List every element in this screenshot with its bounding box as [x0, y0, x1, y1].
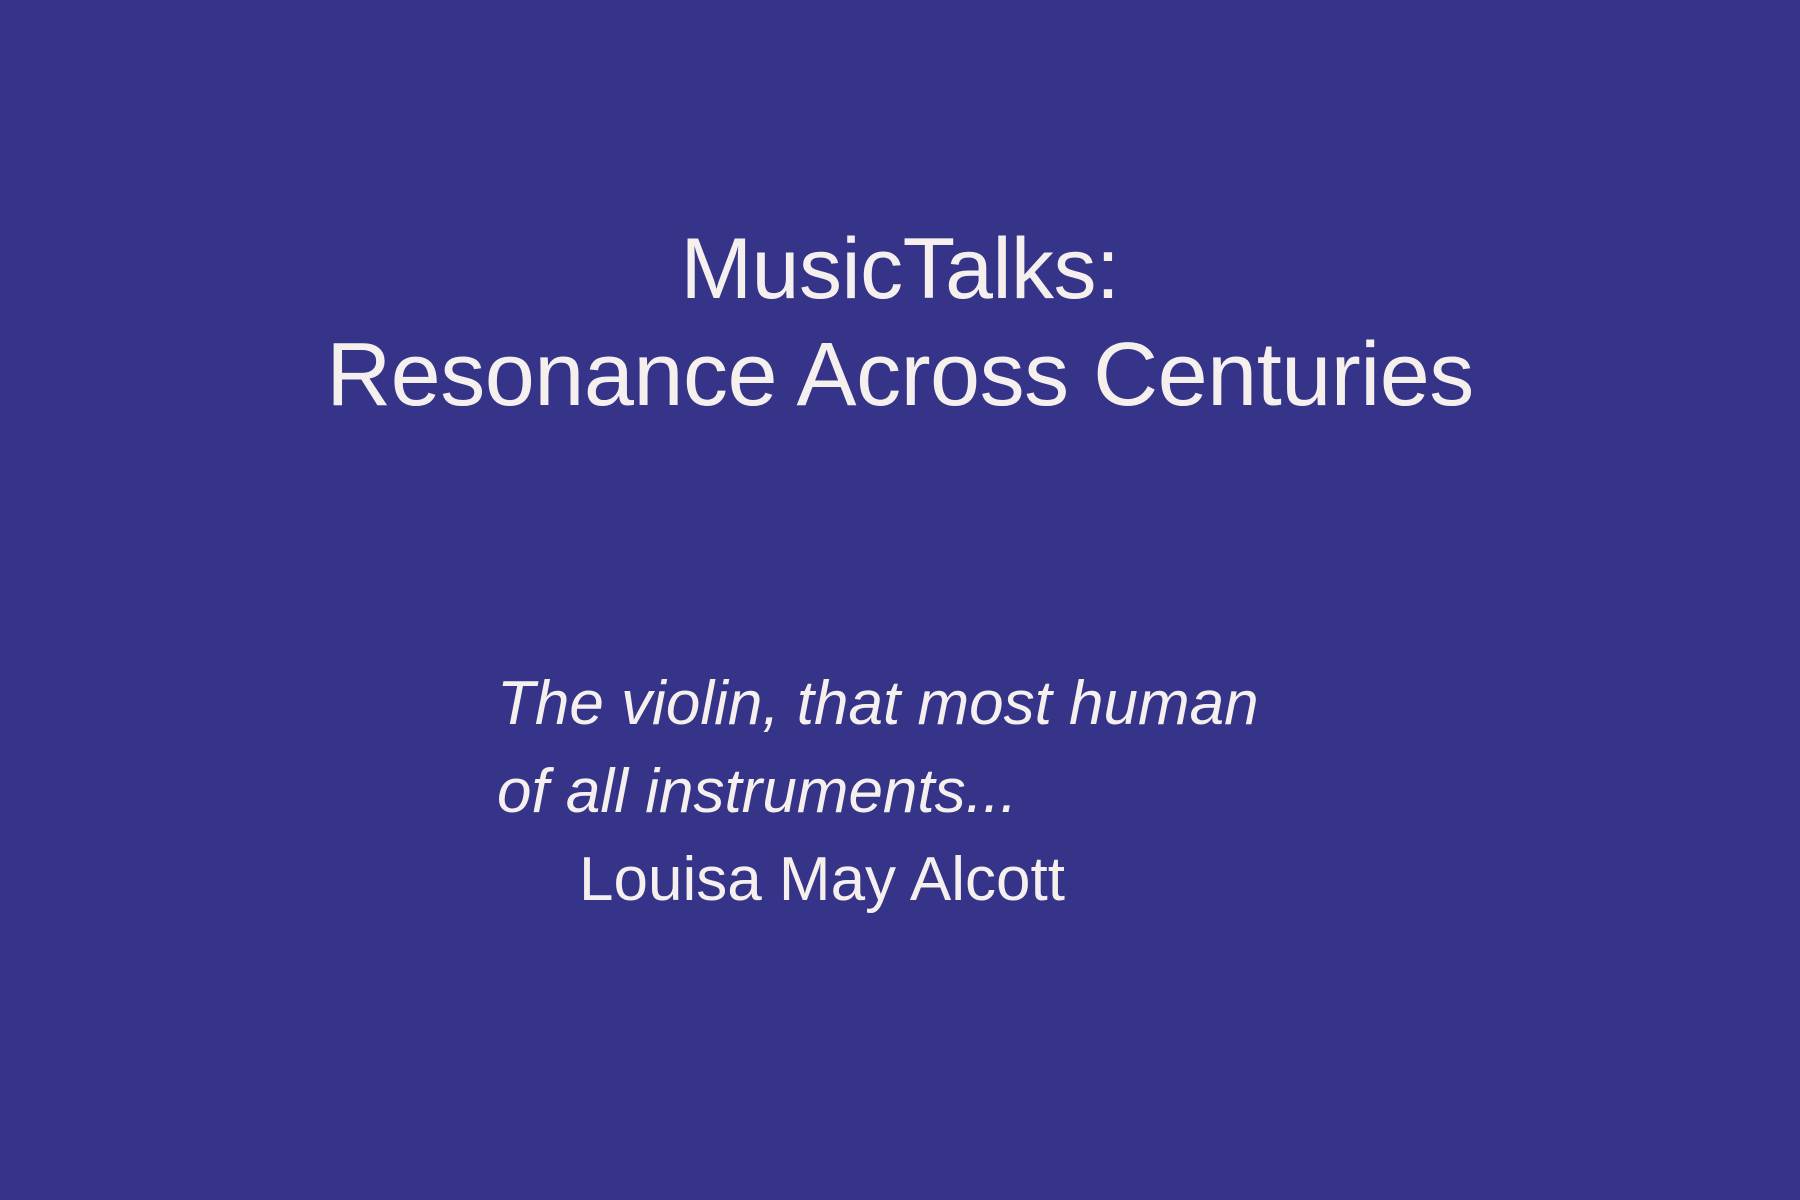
presentation-slide: MusicTalks: Resonance Across Centuries T… [0, 0, 1800, 1200]
slide-title: MusicTalks: Resonance Across Centuries [0, 218, 1800, 429]
title-line-2: Resonance Across Centuries [120, 321, 1680, 429]
title-line-1: MusicTalks: [120, 218, 1680, 321]
quote-line-2: of all instruments... [497, 748, 1397, 836]
slide-quote: The violin, that most human of all instr… [497, 660, 1397, 924]
quote-line-1: The violin, that most human [497, 660, 1397, 748]
quote-attribution: Louisa May Alcott [497, 836, 1397, 924]
